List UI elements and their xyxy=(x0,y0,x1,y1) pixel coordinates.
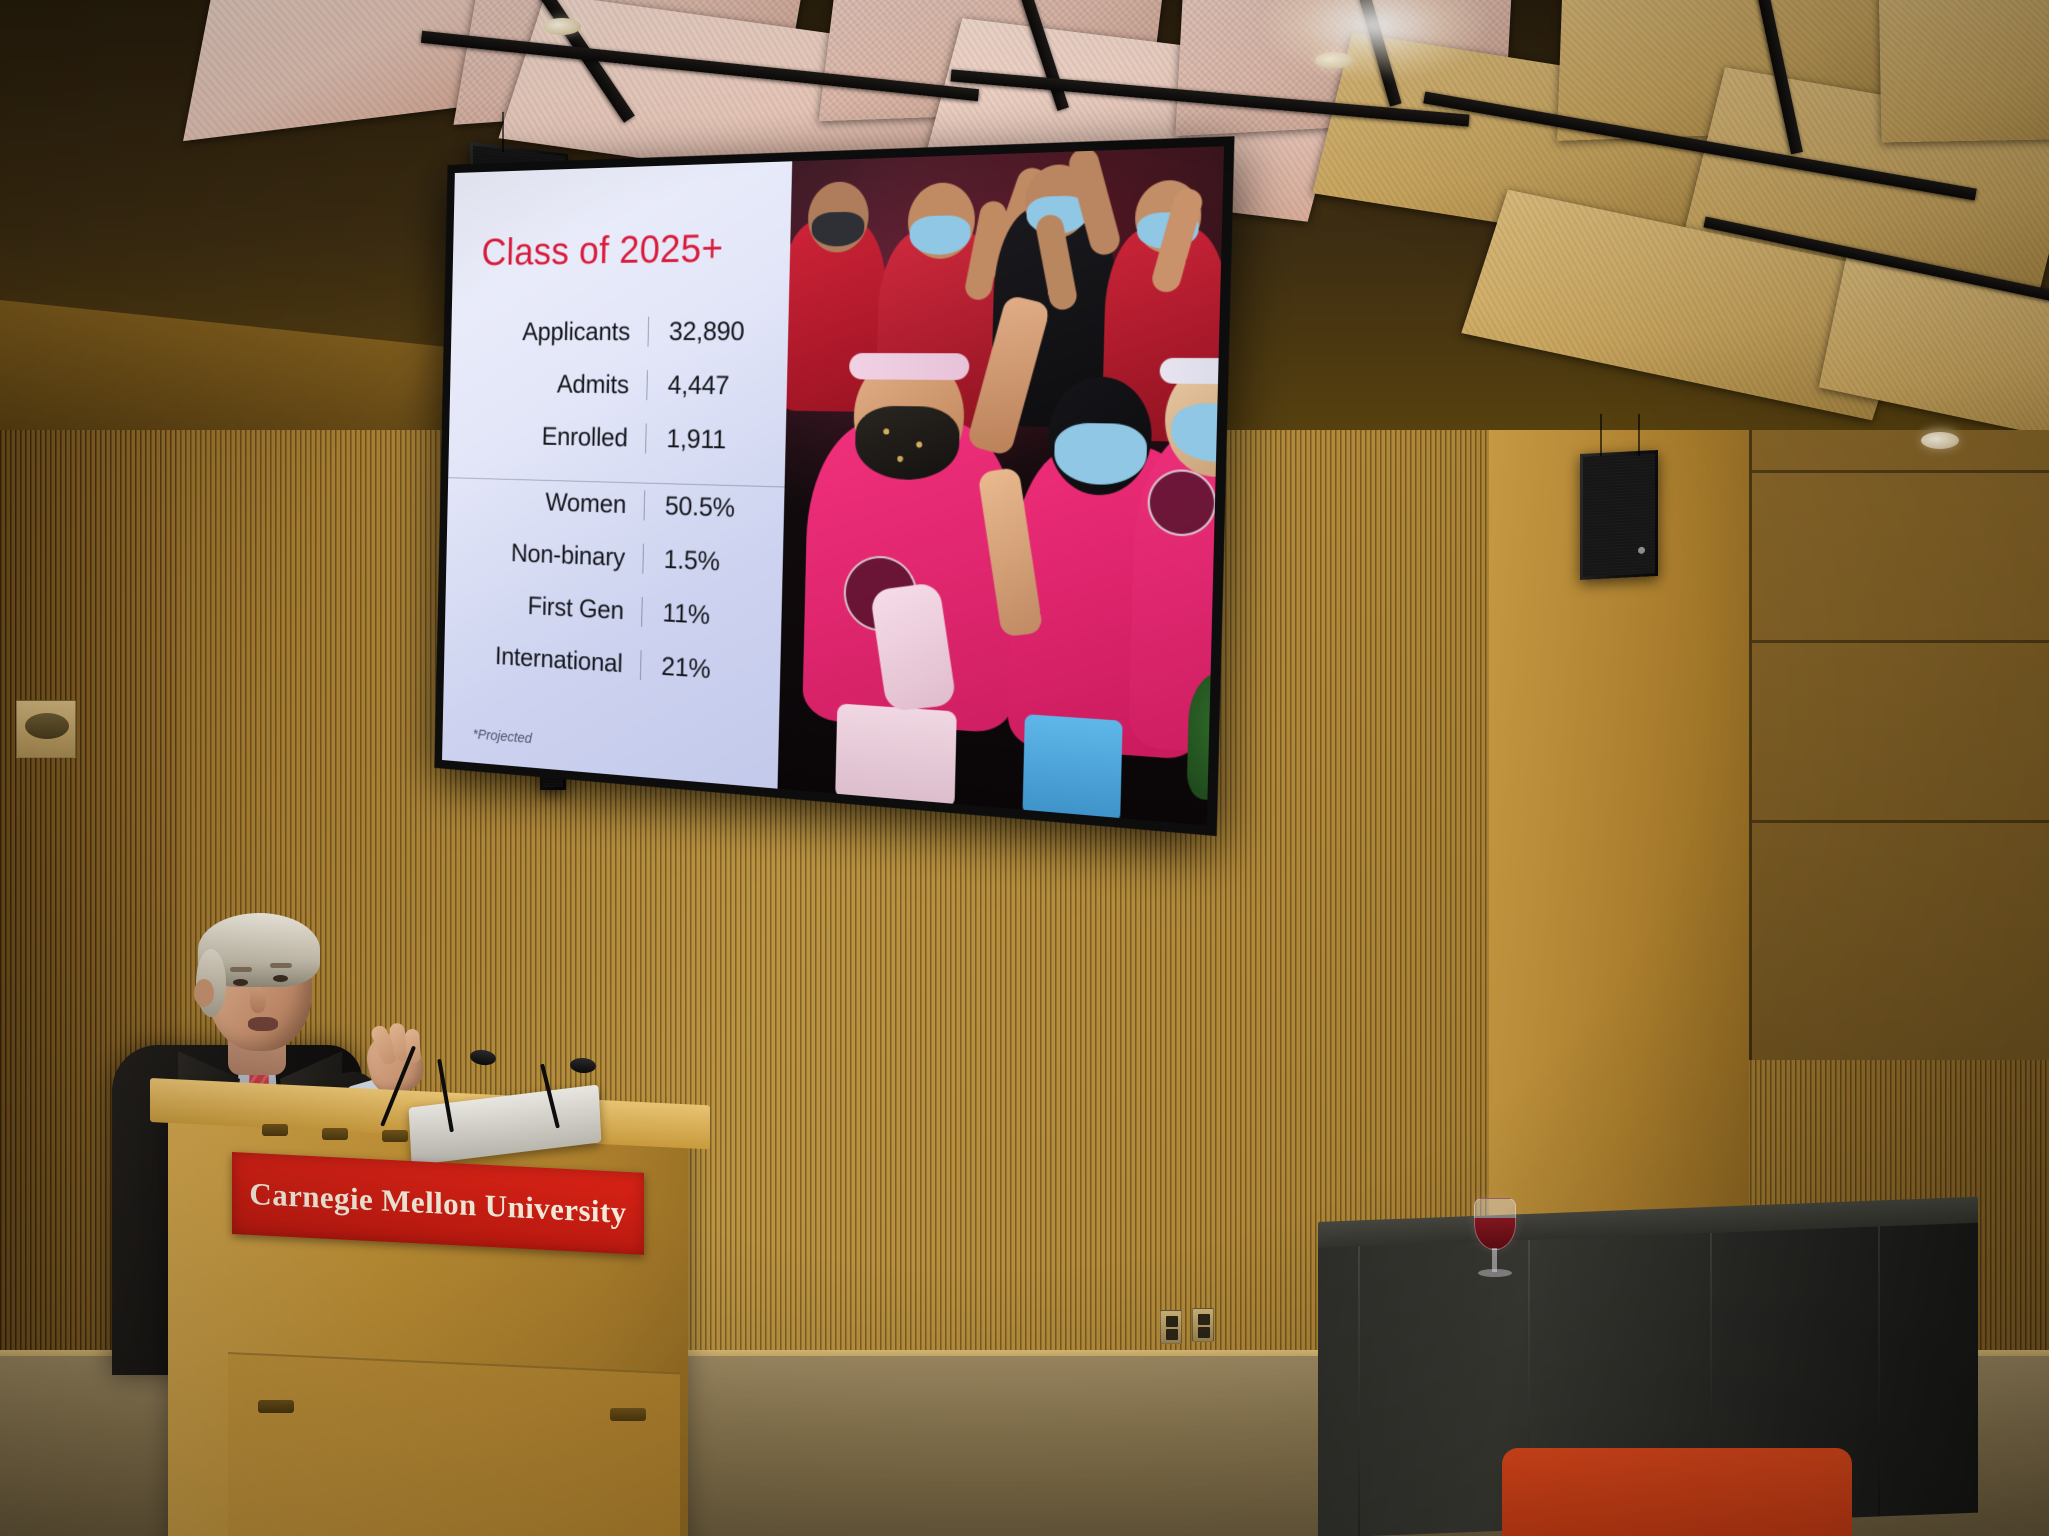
table-row: Enrolled 1,911 xyxy=(448,420,786,480)
stats-table: Applicants 32,890 Admits 4,447 Enrolled … xyxy=(444,316,789,713)
wall-plaque xyxy=(16,700,76,758)
orange-chair[interactable] xyxy=(1502,1448,1852,1536)
stat-value: 50.5% xyxy=(644,490,785,525)
podium-clip xyxy=(382,1130,408,1142)
slide-photo-students xyxy=(778,146,1224,825)
ceiling-speaker-right xyxy=(1580,450,1658,580)
downlight-icon xyxy=(1921,432,1959,449)
stat-value: 11% xyxy=(641,597,782,635)
table-row: Applicants 32,890 xyxy=(451,316,789,371)
slide-footnote: *Projected xyxy=(473,726,532,747)
stat-value: 1,911 xyxy=(645,423,786,456)
podium-latch xyxy=(610,1408,646,1421)
speaker-wire xyxy=(1638,414,1640,456)
stat-label: Applicants xyxy=(451,317,648,347)
slide-title: Class of 2025+ xyxy=(481,225,791,274)
podium-latch xyxy=(258,1400,294,1413)
stat-label: Women xyxy=(447,485,644,521)
stat-value: 32,890 xyxy=(648,316,789,347)
wine-glass[interactable] xyxy=(1474,1198,1516,1250)
ceiling-panel xyxy=(1879,0,2049,142)
lecture-hall-scene: Class of 2025+ Applicants 32,890 Admits … xyxy=(0,0,2049,1536)
stat-label: Enrolled xyxy=(449,420,646,453)
speaker-wire xyxy=(502,112,504,152)
projection-screen: Class of 2025+ Applicants 32,890 Admits … xyxy=(434,136,1234,836)
podium-clip xyxy=(322,1128,348,1140)
wall-outlet[interactable] xyxy=(1160,1310,1182,1344)
table-row: Admits 4,447 xyxy=(449,369,787,426)
speaker-wire xyxy=(1600,414,1602,456)
stat-label: Admits xyxy=(450,369,647,400)
stat-label: Non-binary xyxy=(446,536,643,574)
wall-outlet[interactable] xyxy=(1192,1308,1214,1342)
stat-value: 1.5% xyxy=(643,544,784,580)
presentation-slide: Class of 2025+ Applicants 32,890 Admits … xyxy=(442,161,792,789)
podium-plaque-text: Carnegie Mellon University xyxy=(249,1176,626,1231)
downlight-icon xyxy=(543,18,581,35)
podium-lower-face xyxy=(228,1352,680,1536)
podium-clip xyxy=(262,1124,288,1136)
stat-value: 4,447 xyxy=(647,370,788,402)
wine-glass-base xyxy=(1478,1269,1512,1277)
